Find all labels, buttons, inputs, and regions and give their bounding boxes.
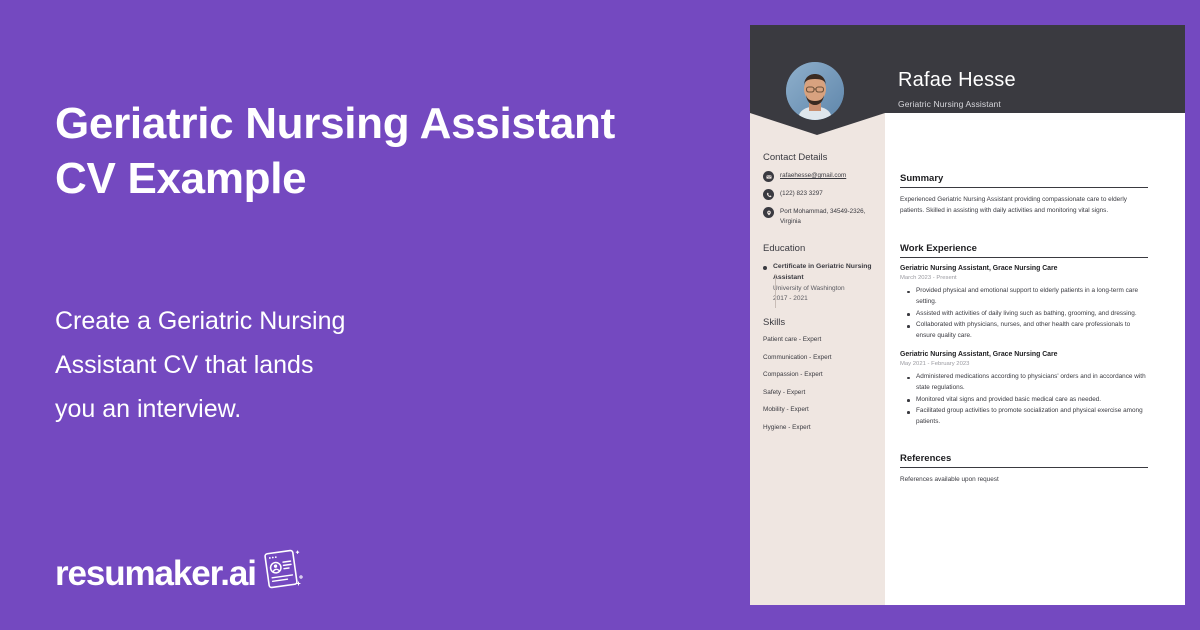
page-title-line-1: Geriatric Nursing Assistant: [55, 99, 615, 148]
summary-text: Experienced Geriatric Nursing Assistant …: [900, 194, 1148, 216]
job-bullet: Monitored vital signs and provided basic…: [900, 395, 1148, 406]
skill-item: Hygiene - Expert: [763, 424, 885, 431]
education-school: University of Washington: [773, 284, 885, 294]
references-text: References available upon request: [900, 474, 1148, 485]
contact-details-section: Contact Details rafaehesse@gmail.com (12…: [763, 152, 885, 234]
skill-item: Patient care - Expert: [763, 336, 885, 343]
resumaker-logo[interactable]: resumaker.ai: [55, 550, 304, 597]
work-experience-section: Work Experience Geriatric Nursing Assist…: [900, 243, 1148, 436]
skills-heading: Skills: [763, 317, 885, 328]
contact-location-text: Port Mohammad, 34549-2326, Virginia: [780, 207, 885, 227]
logo-wordmark: resumaker.ai: [55, 556, 256, 591]
education-heading: Education: [763, 243, 885, 254]
contact-email-text: rafaehesse@gmail.com: [780, 171, 846, 181]
education-years: 2017 - 2021: [773, 294, 885, 304]
work-experience-item: Geriatric Nursing Assistant, Grace Nursi…: [900, 350, 1148, 428]
job-bullet: Administered medications according to ph…: [900, 372, 1148, 394]
contact-item-phone[interactable]: (122) 823 3297: [763, 189, 885, 200]
cv-preview-card[interactable]: Rafae Hesse Geriatric Nursing Assistant …: [750, 25, 1185, 605]
summary-heading: Summary: [900, 173, 1148, 188]
cv-role: Geriatric Nursing Assistant: [898, 99, 1001, 109]
page-subtitle-line-1: Create a Geriatric Nursing: [55, 307, 345, 335]
contact-details-heading: Contact Details: [763, 152, 885, 163]
skill-item: Mobility - Expert: [763, 406, 885, 413]
page-title: Geriatric Nursing Assistant CV Example: [55, 96, 655, 206]
job-bullet: Collaborated with physicians, nurses, an…: [900, 320, 1148, 342]
contact-item-email[interactable]: rafaehesse@gmail.com: [763, 171, 885, 182]
phone-icon: [763, 189, 774, 200]
summary-section: Summary Experienced Geriatric Nursing As…: [900, 173, 1148, 216]
email-icon: [763, 171, 774, 182]
location-icon: [763, 207, 774, 218]
education-degree: Certificate in Geriatric Nursing Assista…: [773, 262, 885, 284]
skills-section: Skills Patient care - Expert Communicati…: [763, 317, 885, 441]
education-timeline-rule: [775, 274, 776, 308]
work-experience-heading: Work Experience: [900, 243, 1148, 258]
job-title: Geriatric Nursing Assistant, Grace Nursi…: [900, 350, 1148, 360]
contact-phone-text: (122) 823 3297: [780, 189, 823, 199]
page-subtitle-line-2: Assistant CV that lands: [55, 351, 313, 379]
page-subtitle-line-3: you an interview.: [55, 395, 241, 423]
job-date: May 2021 - February 2023: [900, 360, 1148, 369]
education-section: Education Certificate in Geriatric Nursi…: [763, 243, 885, 305]
page-subtitle: Create a Geriatric Nursing Assistant CV …: [55, 300, 475, 431]
job-bullet: Facilitated group activities to promote …: [900, 406, 1148, 428]
references-section: References References available upon req…: [900, 453, 1148, 485]
avatar: [786, 62, 844, 120]
job-bullet-list: Administered medications according to ph…: [900, 372, 1148, 428]
skill-item: Safety - Expert: [763, 389, 885, 396]
resume-document-icon: [258, 546, 304, 597]
job-bullet-list: Provided physical and emotional support …: [900, 286, 1148, 342]
job-bullet: Provided physical and emotional support …: [900, 286, 1148, 308]
job-bullet: Assisted with activities of daily living…: [900, 309, 1148, 320]
promo-panel: Geriatric Nursing Assistant CV Example C…: [0, 0, 750, 630]
references-heading: References: [900, 453, 1148, 468]
education-item: Certificate in Geriatric Nursing Assista…: [763, 262, 885, 305]
job-title: Geriatric Nursing Assistant, Grace Nursi…: [900, 264, 1148, 274]
contact-item-location[interactable]: Port Mohammad, 34549-2326, Virginia: [763, 207, 885, 227]
skill-item: Communication - Expert: [763, 354, 885, 361]
job-date: March 2023 - Present: [900, 274, 1148, 283]
page-title-line-2: CV Example: [55, 154, 306, 203]
cv-name: Rafae Hesse: [898, 69, 1016, 92]
work-experience-item: Geriatric Nursing Assistant, Grace Nursi…: [900, 264, 1148, 342]
skill-item: Compassion - Expert: [763, 371, 885, 378]
education-bullet-icon: [763, 266, 767, 270]
